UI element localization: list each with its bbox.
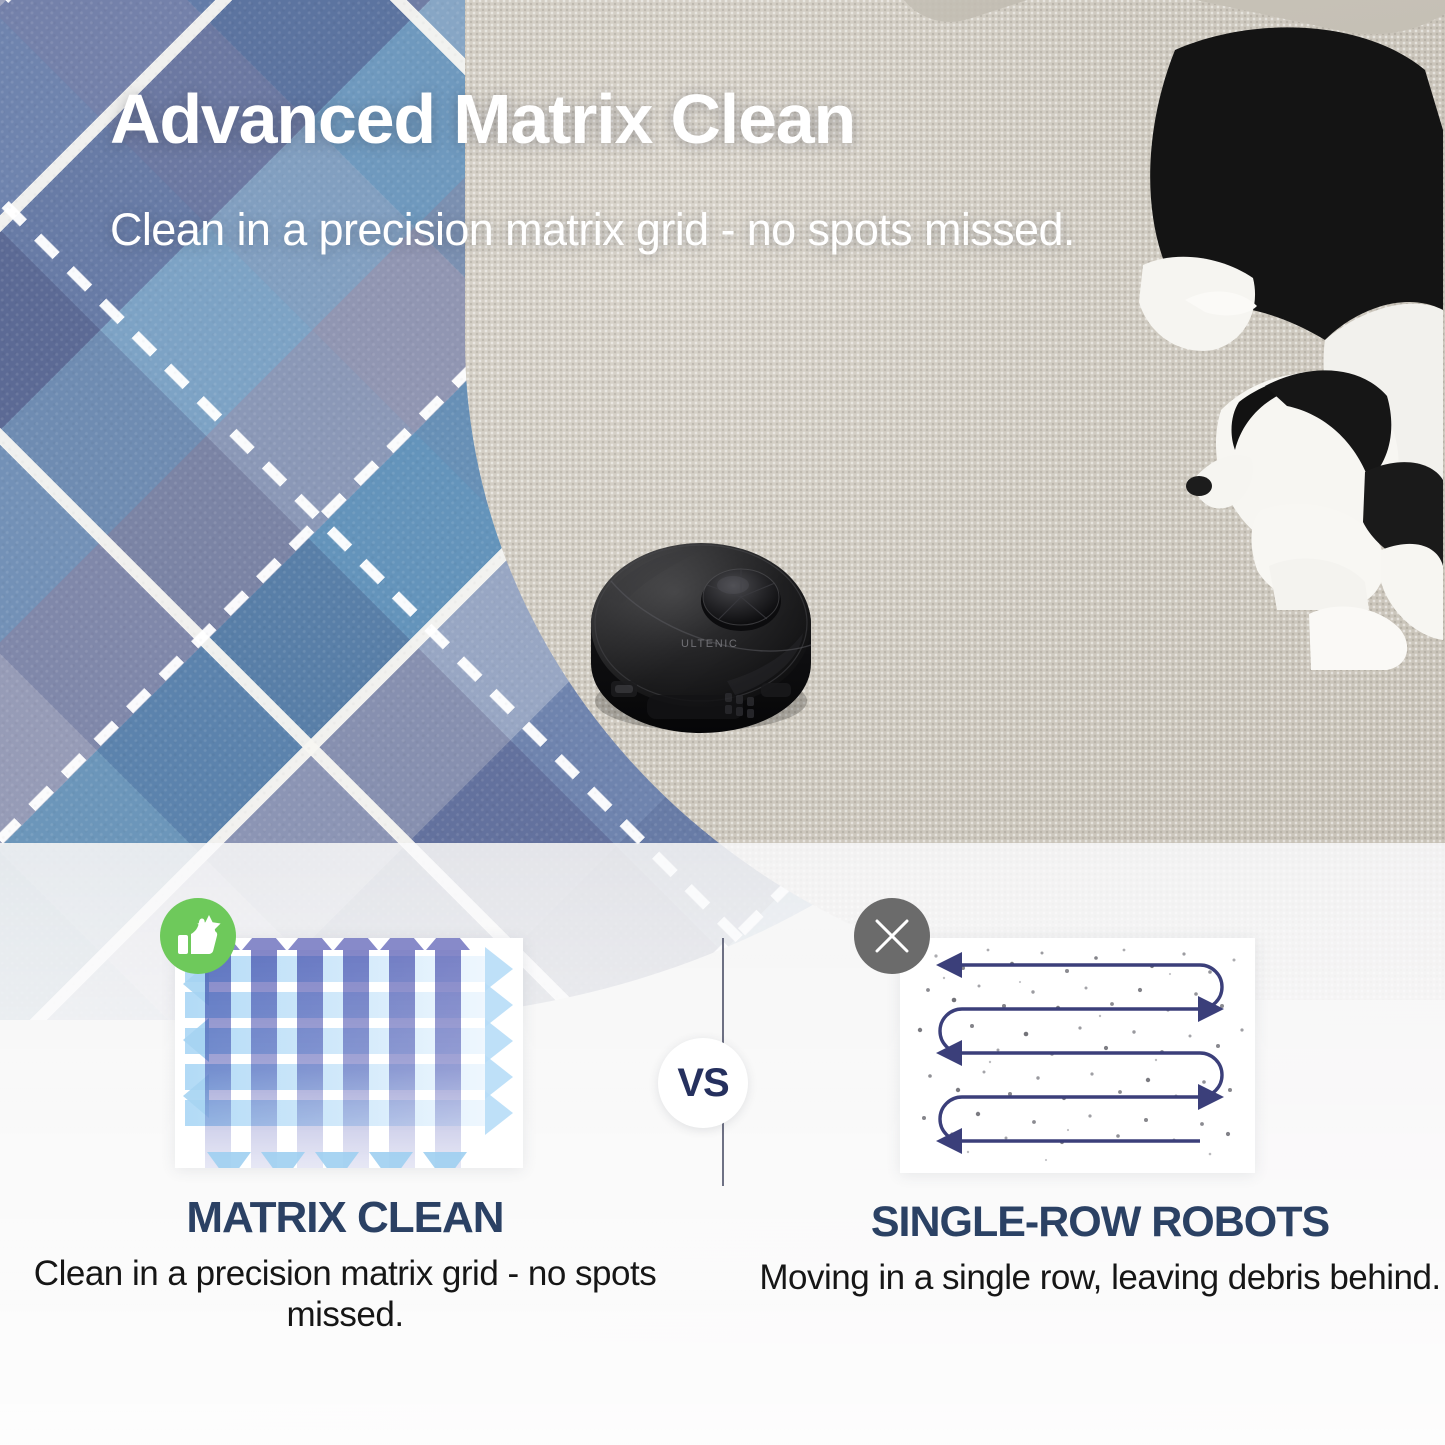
hero-subtitle: Clean in a precision matrix grid - no sp… [110, 205, 1075, 255]
single-row-body: Moving in a single row, leaving debris b… [755, 1258, 1445, 1299]
single-row-title: SINGLE-ROW ROBOTS [755, 1201, 1445, 1244]
matrix-clean-body: Clean in a precision matrix grid - no sp… [0, 1254, 690, 1335]
dog-border-collie [1025, 10, 1445, 670]
hero-title: Advanced Matrix Clean [110, 84, 855, 154]
matrix-diagram-card [175, 938, 523, 1168]
robot-brand-label: ULTENIC [681, 638, 738, 650]
panel-matrix-clean: MATRIX CLEAN Clean in a precision matrix… [0, 860, 690, 1335]
thumbs-up-star-icon [173, 911, 223, 961]
vs-badge: VS [658, 1038, 748, 1128]
product-infographic: ULTENIC Advanced Matrix Clean Clean in a… [0, 0, 1445, 1445]
vs-label: VS [677, 1061, 728, 1106]
cross-x-icon [870, 914, 914, 958]
single-row-diagram-card [900, 938, 1255, 1173]
thumbs-up-badge [160, 898, 236, 974]
cross-badge [854, 898, 930, 974]
matrix-clean-title: MATRIX CLEAN [0, 1196, 690, 1240]
serpentine-path-diagram [900, 938, 1255, 1173]
matrix-grid-diagram [175, 938, 523, 1168]
robot-vacuum: ULTENIC [575, 505, 825, 755]
